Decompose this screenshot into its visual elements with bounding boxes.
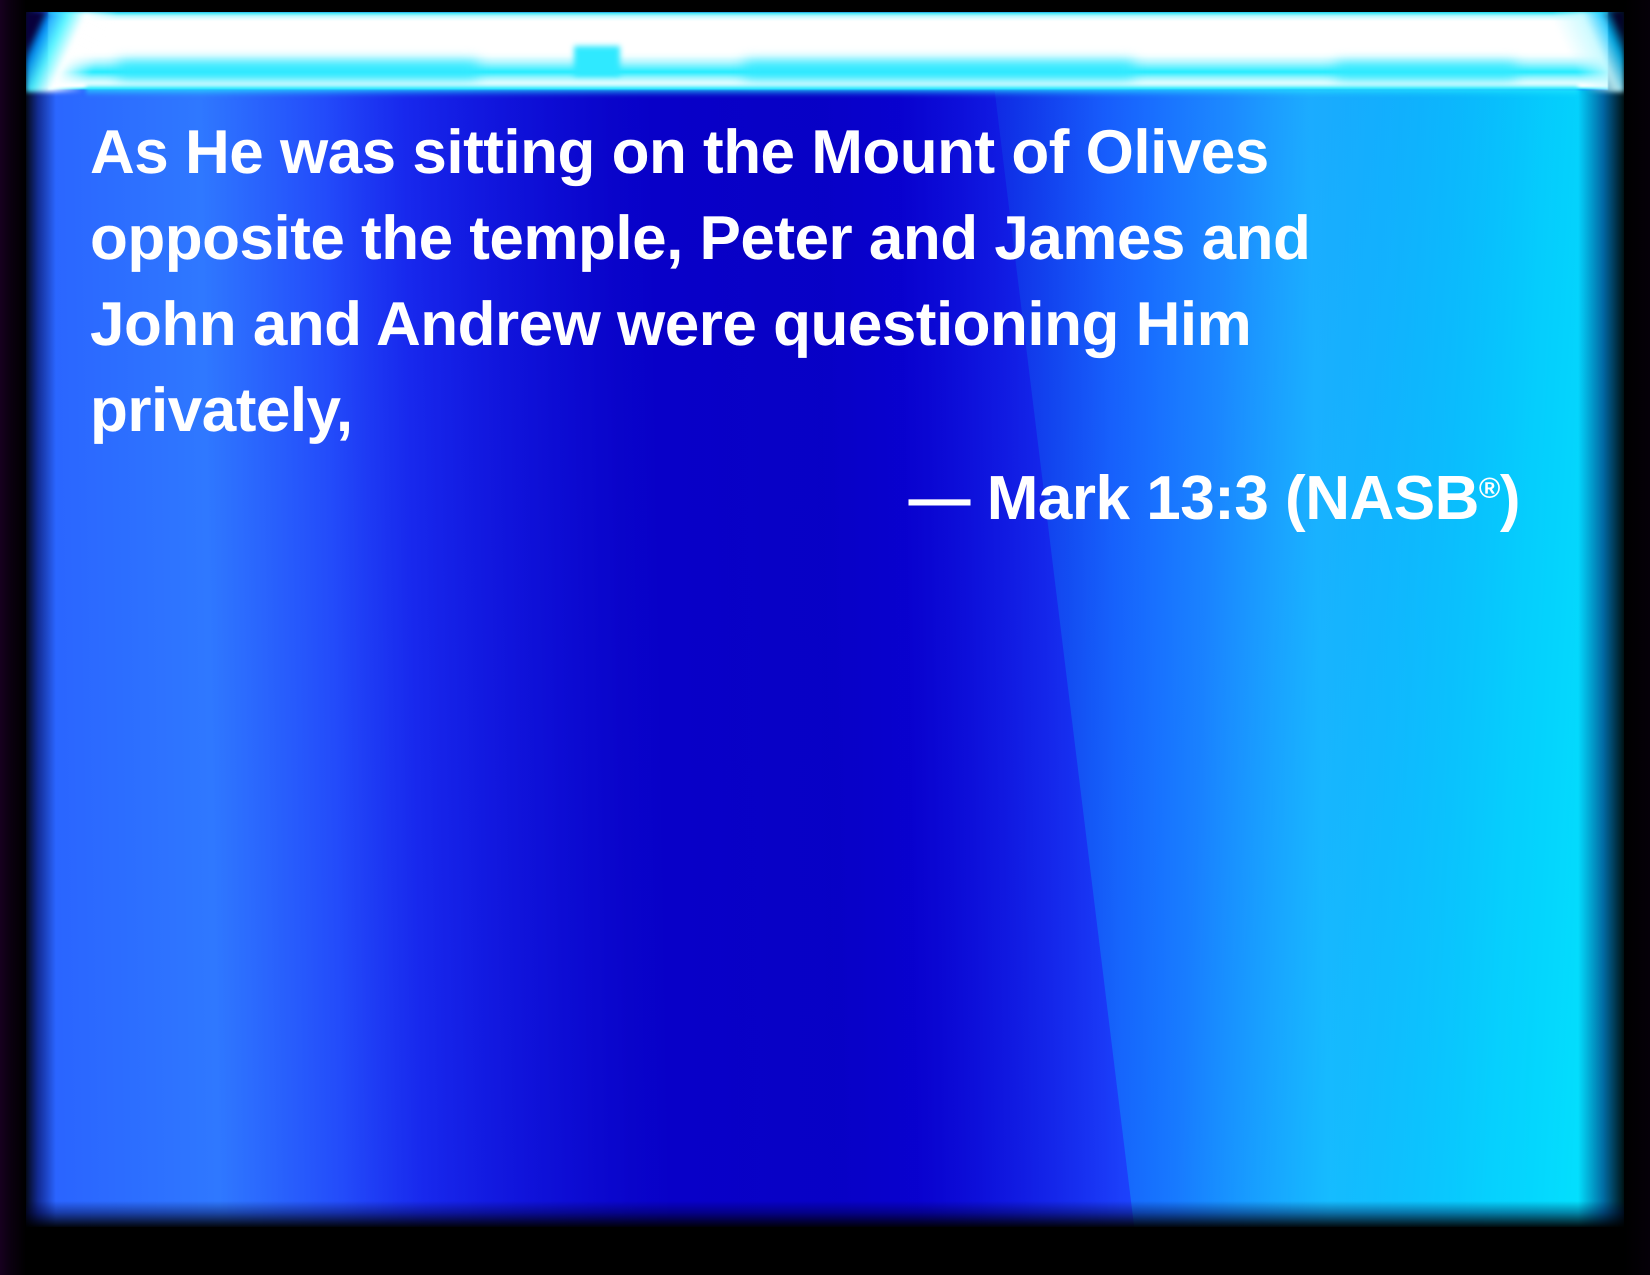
header-glow-band <box>26 12 1624 96</box>
verse-citation: — Mark 13:3 (NASB®) <box>909 456 1531 542</box>
header-band-underglow <box>86 86 1578 96</box>
verse-line-1: As He was sitting on the Mount of Olives <box>90 110 1530 196</box>
citation-close-paren: ) <box>1500 464 1520 533</box>
citation-reference: 13:3 <box>1146 464 1268 533</box>
citation-space <box>1129 464 1146 533</box>
verse-text-block: As He was sitting on the Mount of Olives… <box>90 110 1530 454</box>
slide-canvas: As He was sitting on the Mount of Olives… <box>26 12 1624 1227</box>
citation-em-dash: — <box>909 464 987 533</box>
verse-line-2: opposite the temple, Peter and James and <box>90 196 1530 282</box>
bible-verse-slide: As He was sitting on the Mount of Olives… <box>0 0 1650 1275</box>
header-band-glow-right <box>1336 64 1516 78</box>
citation-translation: NASB <box>1305 464 1479 533</box>
header-band-glow-center <box>744 62 1134 78</box>
background-left-vignette <box>26 12 56 1227</box>
background-right-vignette <box>1578 12 1624 1227</box>
registered-trademark-icon: ® <box>1479 473 1500 505</box>
header-band-core <box>48 12 1608 90</box>
header-band-notch <box>574 46 620 76</box>
verse-line-3: John and Andrew were questioning Him <box>90 282 1530 368</box>
verse-attribution-row: — Mark 13:3 (NASB®) <box>90 456 1530 542</box>
header-band-left-bevel <box>26 12 116 92</box>
citation-book: Mark <box>987 464 1130 533</box>
verse-line-4: privately, <box>90 368 1530 454</box>
header-band-glow-left <box>118 62 478 78</box>
header-band-right-bevel <box>1554 12 1624 92</box>
citation-open-paren: ( <box>1268 464 1305 533</box>
background-bottom-vignette <box>26 1201 1624 1227</box>
